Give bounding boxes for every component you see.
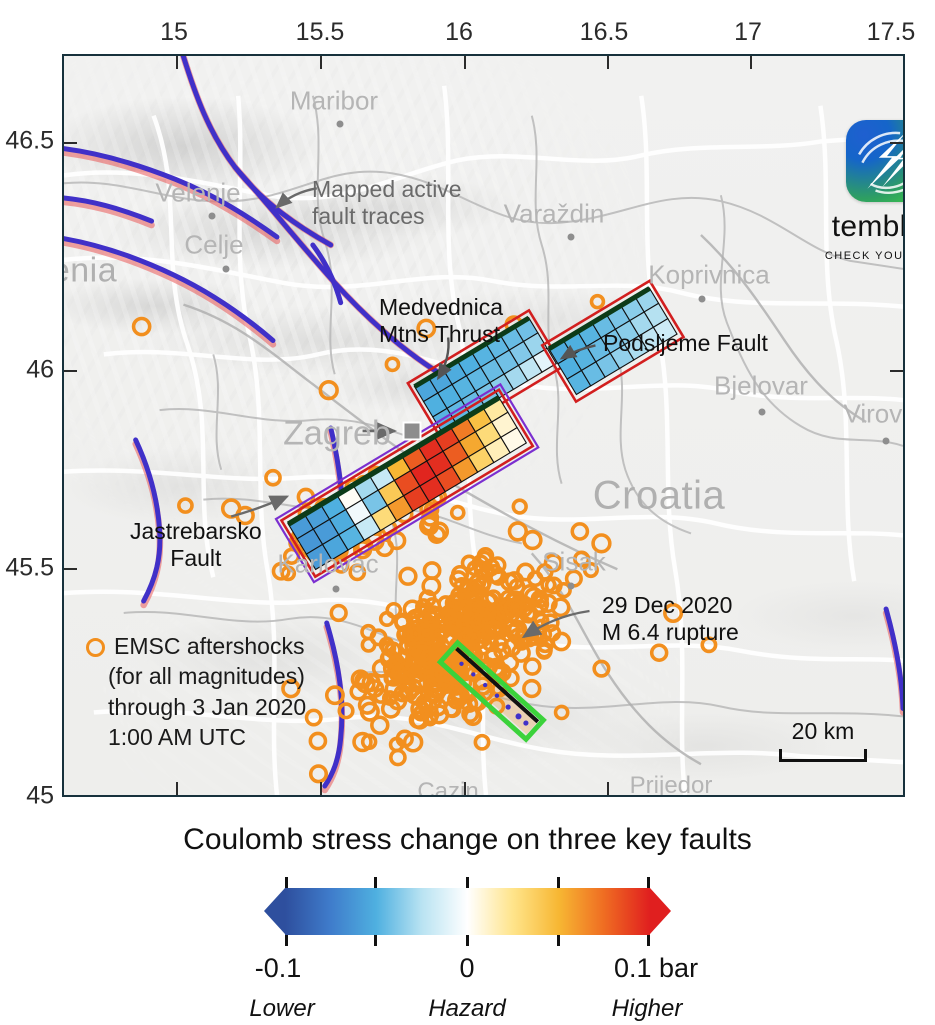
city-dot-karlovac bbox=[333, 586, 340, 593]
annotation-jastrebarsko-line1: Jastrebarsko bbox=[130, 518, 262, 545]
scale-bar-line bbox=[779, 759, 867, 762]
x-tick-mark-bottom bbox=[176, 782, 178, 795]
colorbar-tick bbox=[647, 935, 650, 946]
annotation-jastrebarsko: Jastrebarsko Fault bbox=[130, 518, 262, 572]
colorbar-gradient bbox=[285, 888, 650, 935]
x-tick-mark-bottom bbox=[464, 782, 466, 795]
annotation-rupture-line1: 29 Dec 2020 bbox=[602, 592, 739, 619]
country-label-slovenia: enia bbox=[62, 252, 117, 291]
y-tick-mark bbox=[64, 568, 77, 570]
temblor-wordmark: temblor® bbox=[812, 210, 905, 244]
annotation-podsljeme: Podsljeme Fault bbox=[603, 330, 768, 357]
colorbar-tick bbox=[374, 877, 377, 888]
annotation-medvednica-line2: Mtns Thrust bbox=[379, 321, 503, 348]
colorbar-tick bbox=[557, 935, 560, 946]
temblor-lightning-icon bbox=[846, 120, 905, 202]
colorbar-tick bbox=[466, 877, 469, 888]
colorbar-tick bbox=[374, 935, 377, 946]
colorbar-tick bbox=[285, 877, 288, 888]
city-dot-maribor bbox=[337, 121, 344, 128]
annotation-mapped-faults: Mapped active fault traces bbox=[312, 176, 462, 230]
annotation-mapped-faults-line1: Mapped active bbox=[312, 176, 462, 203]
annotation-rupture: 29 Dec 2020 M 6.4 rupture bbox=[602, 592, 739, 646]
x-tick-mark-bottom bbox=[607, 782, 609, 795]
aftershock-legend: EMSC aftershocks (for all magnitudes) th… bbox=[86, 631, 306, 752]
annotation-mapped-faults-line2: fault traces bbox=[312, 203, 462, 230]
colorbar-label-mid: 0 bbox=[459, 953, 474, 984]
legend-line-3: through 3 Jan 2020 bbox=[108, 692, 306, 722]
temblor-tagline: CHECK YOUR RISK bbox=[812, 250, 905, 262]
legend-row-1: EMSC aftershocks bbox=[86, 631, 306, 661]
y-tick-label: 45 bbox=[0, 782, 54, 811]
colorbar-label-max: 0.1 bar bbox=[614, 953, 698, 984]
aftershock-marker-icon bbox=[86, 638, 105, 657]
leader-rupture bbox=[524, 611, 590, 637]
colorbar-title: Coulomb stress change on three key fault… bbox=[0, 823, 935, 857]
x-tick-label: 15 bbox=[160, 18, 188, 47]
lightning-bolt-icon bbox=[846, 120, 905, 202]
legend-line-1: EMSC aftershocks bbox=[114, 631, 304, 661]
city-dot-bjelovar bbox=[759, 409, 766, 416]
city-dot-sisak bbox=[568, 583, 575, 590]
x-tick-label: 17.5 bbox=[867, 18, 916, 47]
colorbar-label-min: -0.1 bbox=[255, 953, 302, 984]
scale-bar-graphic bbox=[779, 749, 867, 762]
x-tick-label: 16.5 bbox=[580, 18, 629, 47]
map-canvas[interactable]: enia Croatia Maribor Velenje Celje Varaž… bbox=[64, 56, 903, 795]
colorbar: -0.1 0 0.1 bar Lower Hazard Higher bbox=[264, 888, 671, 1025]
annotation-rupture-line2: M 6.4 rupture bbox=[602, 619, 739, 646]
scale-bar: 20 km bbox=[779, 718, 867, 762]
colorbar-tick bbox=[285, 935, 288, 946]
y-tick-mark bbox=[64, 370, 77, 372]
colorbar-tick bbox=[557, 877, 560, 888]
legend-line-4: 1:00 AM UTC bbox=[108, 722, 306, 752]
temblor-wordmark-text: temblor bbox=[832, 210, 905, 243]
y-tick-label: 46 bbox=[0, 356, 54, 385]
x-tick-mark bbox=[176, 56, 178, 69]
colorbar-low-descriptor: Lower bbox=[249, 995, 314, 1023]
colorbar-body bbox=[264, 888, 671, 935]
x-tick-label: 16 bbox=[445, 18, 473, 47]
colorbar-tick bbox=[647, 877, 650, 888]
zagreb-city-marker bbox=[403, 422, 422, 441]
x-tick-mark bbox=[320, 56, 322, 69]
annotation-medvednica-line1: Medvednica bbox=[379, 294, 503, 321]
y-tick-label: 46.5 bbox=[0, 127, 54, 156]
annotation-medvednica: Medvednica Mtns Thrust bbox=[379, 294, 503, 348]
city-dot-velenje bbox=[209, 213, 216, 220]
city-dot-celje bbox=[223, 266, 230, 273]
y-tick-mark-right bbox=[890, 370, 903, 372]
city-dot-koprivnica bbox=[699, 296, 706, 303]
colorbar-tick bbox=[466, 935, 469, 946]
x-tick-label: 17 bbox=[734, 18, 762, 47]
y-tick-mark bbox=[64, 142, 77, 144]
city-dot-virovitica bbox=[883, 438, 890, 445]
city-dot-varazdin bbox=[568, 234, 575, 241]
leader-jastrebarsko bbox=[231, 497, 287, 517]
colorbar-high-descriptor: Higher bbox=[612, 995, 683, 1023]
colorbar-descriptors: Lower Hazard Higher bbox=[264, 995, 671, 1025]
x-tick-mark bbox=[464, 56, 466, 69]
colorbar-tick-labels: -0.1 0 0.1 bar bbox=[264, 953, 671, 985]
leader-mapped-faults bbox=[277, 188, 317, 207]
y-tick-label: 45.5 bbox=[0, 554, 54, 583]
map-panel[interactable]: enia Croatia Maribor Velenje Celje Varaž… bbox=[62, 54, 905, 797]
x-tick-label: 15.5 bbox=[296, 18, 345, 47]
legend-line-2: (for all magnitudes) bbox=[108, 661, 306, 691]
scale-bar-label: 20 km bbox=[779, 718, 867, 745]
x-tick-mark-bottom bbox=[320, 782, 322, 795]
country-label-croatia: Croatia bbox=[593, 474, 725, 519]
colorbar-mid-descriptor: Hazard bbox=[428, 995, 505, 1023]
y-tick-mark-right bbox=[890, 142, 903, 144]
annotation-jastrebarsko-line2: Fault bbox=[130, 545, 262, 572]
colorbar-extend-high-arrow bbox=[650, 888, 671, 934]
leader-podsljeme bbox=[562, 345, 596, 358]
x-tick-mark bbox=[750, 56, 752, 69]
x-tick-mark bbox=[607, 56, 609, 69]
colorbar-extend-low-arrow bbox=[264, 888, 285, 934]
